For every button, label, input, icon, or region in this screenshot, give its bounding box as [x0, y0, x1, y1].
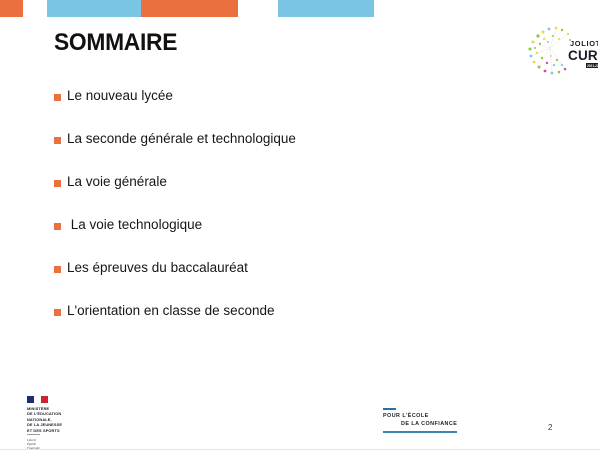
page-number: 2	[548, 423, 552, 432]
logo-text-curie: CURIE	[568, 48, 598, 63]
slogan-accent-line-top	[383, 408, 396, 410]
agenda-item[interactable]: L'orientation en classe de seconde	[54, 303, 524, 346]
ministry-motto: Liberté Égalité Fraternité	[27, 438, 87, 450]
agenda-item[interactable]: La voie générale	[54, 174, 524, 217]
agenda-item-label: Les épreuves du baccalauréat	[67, 260, 248, 277]
page-title: SOMMAIRE	[54, 29, 177, 57]
slide-canvas: SOMMAIRE	[0, 0, 600, 450]
agenda-item-label: La seconde générale et technologique	[67, 131, 296, 148]
bullet-square-icon	[54, 266, 61, 273]
bullet-square-icon	[54, 180, 61, 187]
joliot-curie-logo-mark: JOLIOT CURIE 2021-22	[524, 22, 598, 78]
logo-text-joliot: JOLIOT	[570, 39, 598, 48]
slogan-line-2: DE LA CONFIANCE	[383, 420, 503, 428]
joliot-curie-logo: JOLIOT CURIE 2021-22	[524, 22, 598, 78]
agenda-item[interactable]: La seconde générale et technologique	[54, 131, 524, 174]
bullet-square-icon	[54, 137, 61, 144]
top-bar-segment-orange-1	[0, 0, 23, 17]
top-decorative-bar	[0, 0, 600, 17]
top-bar-segment-blue-1	[47, 0, 141, 17]
agenda-item-label: L'orientation en classe de seconde	[67, 303, 274, 320]
bullet-square-icon	[54, 309, 61, 316]
top-bar-segment-blue-2	[278, 0, 374, 17]
agenda-item[interactable]: Les épreuves du baccalauréat	[54, 260, 524, 303]
bullet-square-icon	[54, 223, 61, 230]
bullet-square-icon	[54, 94, 61, 101]
agenda-item-label: La voie technologique	[67, 217, 202, 234]
agenda-list: Le nouveau lycée La seconde générale et …	[54, 88, 524, 346]
agenda-item-label: La voie générale	[67, 174, 167, 191]
french-flag-icon	[27, 396, 48, 403]
slogan-line-1: POUR L'ÉCOLE	[383, 413, 429, 419]
slogan-accent-line-bottom	[383, 431, 457, 434]
ministry-motto-rule	[27, 434, 40, 435]
logo-dot-burst	[529, 27, 572, 75]
ministry-logo: MINISTÈRE DE L'ÉDUCATION NATIONALE, DE L…	[27, 396, 87, 450]
agenda-item[interactable]: La voie technologique	[54, 217, 524, 260]
logo-badge-text: 2021-22	[587, 64, 598, 68]
agenda-item[interactable]: Le nouveau lycée	[54, 88, 524, 131]
agenda-item-label: Le nouveau lycée	[67, 88, 173, 105]
ministry-name: MINISTÈRE DE L'ÉDUCATION NATIONALE, DE L…	[27, 406, 87, 433]
slogan-logo: POUR L'ÉCOLE DE LA CONFIANCE	[383, 408, 503, 433]
top-bar-segment-orange-2	[141, 0, 238, 17]
slogan-text: POUR L'ÉCOLE DE LA CONFIANCE	[383, 412, 503, 429]
